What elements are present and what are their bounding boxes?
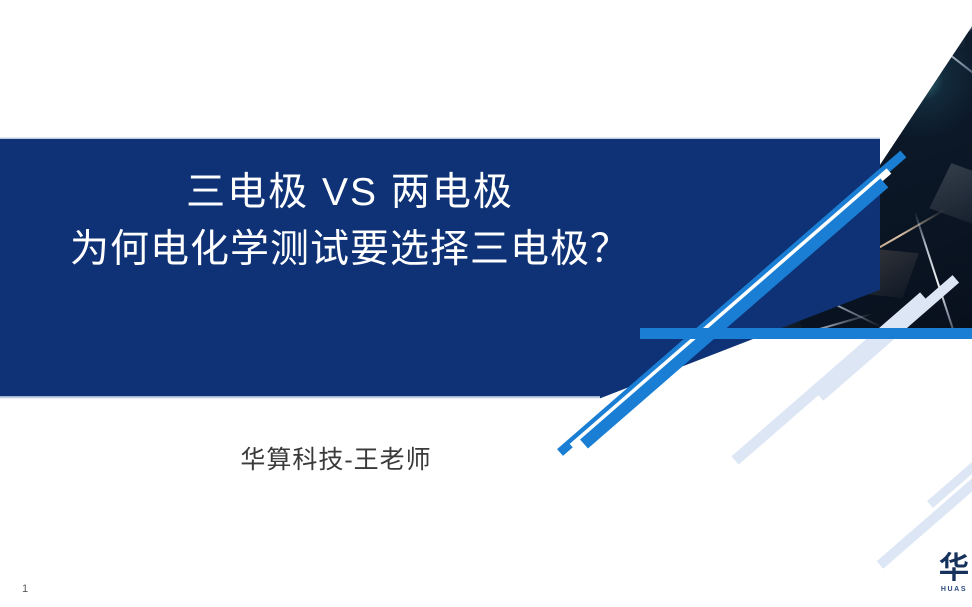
page-number: 1 <box>22 583 28 595</box>
diagonal-accent-horizontal <box>640 328 972 339</box>
band-bottom-hairline <box>0 396 600 399</box>
presenter-subtitle: 华算科技-王老师 <box>0 440 672 476</box>
slide-canvas: 三电极 VS 两电极 为何电化学测试要选择三电极？ 华算科技-王老师 1 华 H… <box>0 0 972 607</box>
company-logo: 华 HUAS <box>906 554 972 593</box>
logo-mark: 华 <box>906 554 972 584</box>
title-block: 三电极 VS 两电极 为何电化学测试要选择三电极？ <box>0 165 700 279</box>
logo-wordmark: HUAS <box>906 586 972 593</box>
title-line-1: 三电极 VS 两电极 <box>0 165 700 221</box>
title-line-2: 为何电化学测试要选择三电极？ <box>0 221 700 279</box>
